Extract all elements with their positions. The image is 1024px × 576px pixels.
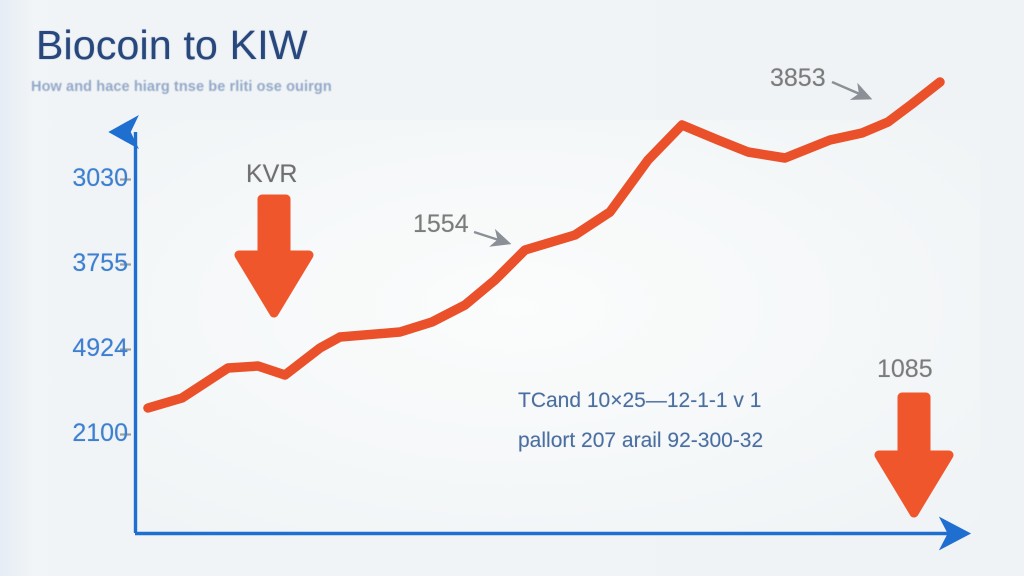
down-arrow-1085 bbox=[879, 397, 949, 513]
chart-note-line-2: pallort 207 arail 92-300-32 bbox=[518, 421, 763, 461]
y-tick-label-1-wrap: 3755 bbox=[18, 249, 128, 279]
callout-arrow-3853 bbox=[832, 82, 869, 98]
callout-arrows-group bbox=[474, 82, 869, 243]
y-tick-label-0: 3030 bbox=[18, 164, 128, 193]
marker-arrows-group bbox=[239, 199, 949, 513]
y-tick-label-3-wrap: 2100 bbox=[18, 419, 128, 449]
y-tick-label-0-wrap: 3030 bbox=[18, 164, 128, 194]
annotation-kvr: KVR bbox=[246, 160, 297, 189]
y-tick-label-2-wrap: 4924 bbox=[18, 334, 128, 364]
y-axis-ticks bbox=[120, 180, 131, 435]
y-tick-label-3: 2100 bbox=[18, 419, 128, 448]
annotation-3853: 3853 bbox=[770, 64, 826, 93]
down-arrow-kvr bbox=[239, 199, 309, 313]
y-tick-label-1: 3755 bbox=[18, 249, 128, 278]
annotation-1554: 1554 bbox=[413, 210, 469, 239]
callout-arrow-1554 bbox=[474, 232, 508, 243]
annotation-1085: 1085 bbox=[877, 355, 933, 384]
y-tick-label-2: 4924 bbox=[18, 334, 128, 363]
chart-vector-layer bbox=[0, 0, 1024, 576]
chart-note-line-1: TCand 10×25—12-1-1 v 1 bbox=[518, 381, 763, 421]
chart-note-block: TCand 10×25—12-1-1 v 1 pallort 207 arail… bbox=[518, 381, 763, 461]
chart-canvas: Biocoin to KIW How and hace hiarg tnse b… bbox=[0, 0, 1024, 576]
